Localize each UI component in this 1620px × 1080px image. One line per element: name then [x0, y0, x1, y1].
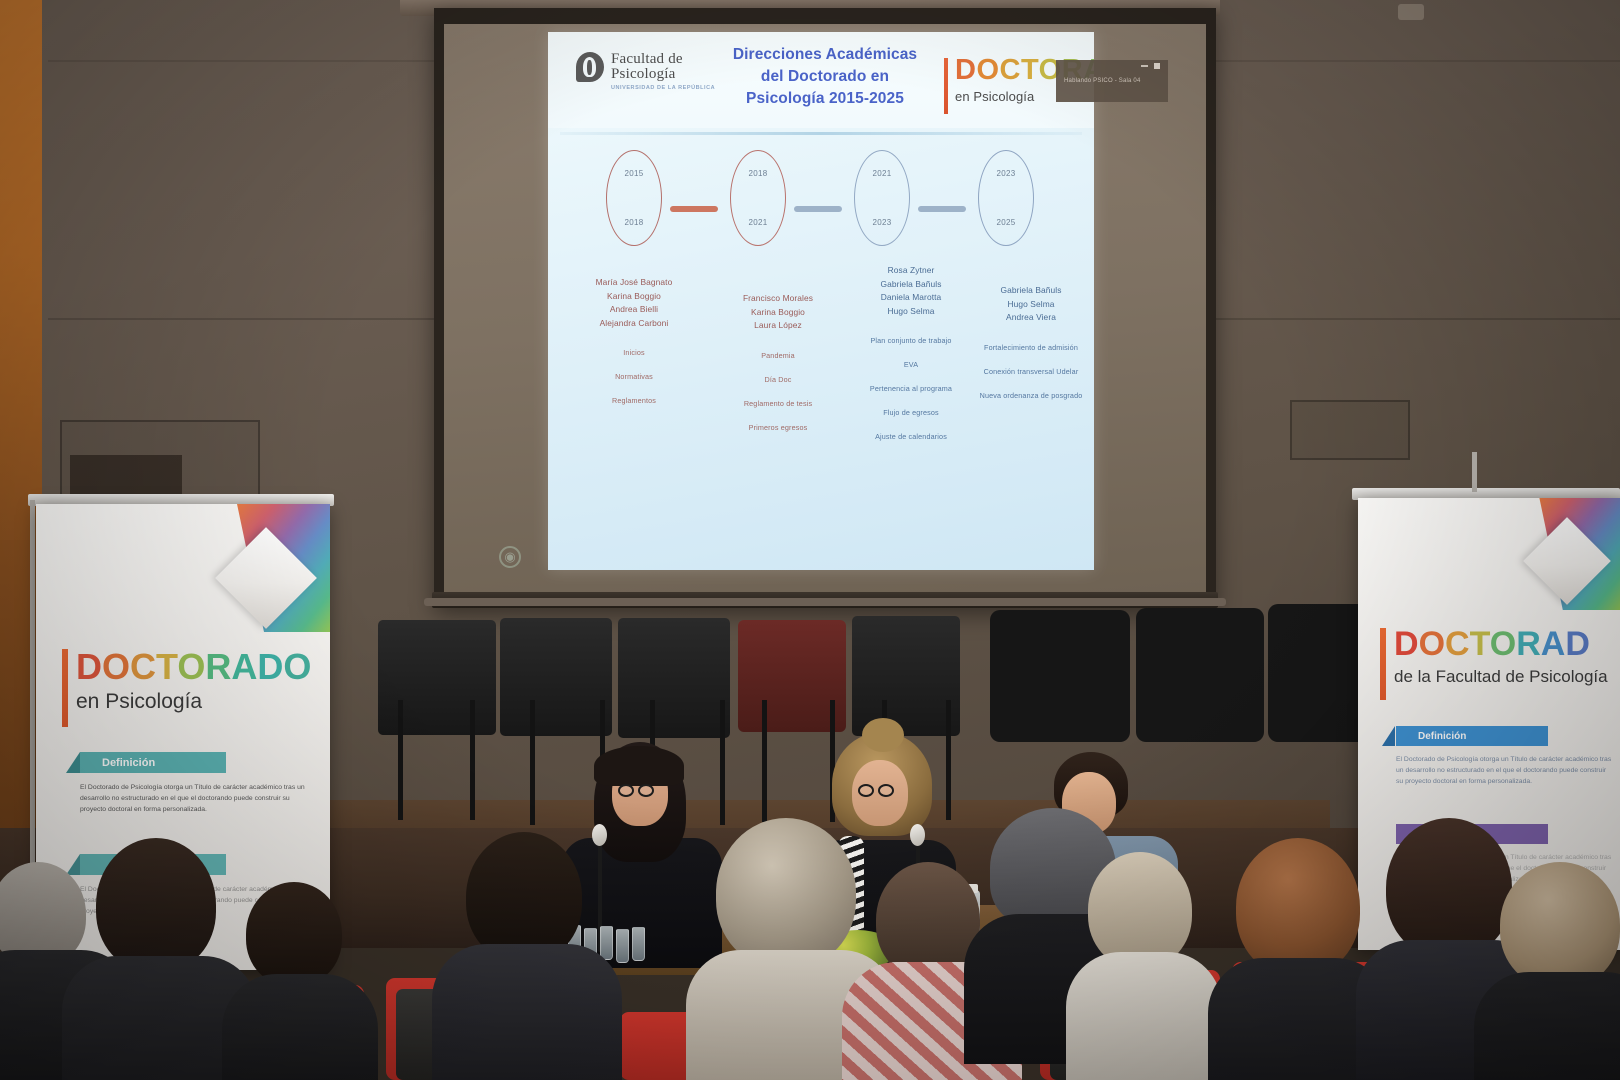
- minimize-icon[interactable]: [1141, 65, 1148, 67]
- audience-head: [1500, 862, 1620, 988]
- chair-leg: [470, 700, 475, 820]
- timeline-node-2023-2025: 20232025: [978, 150, 1034, 246]
- water-glass: [616, 929, 629, 963]
- wordmark-letter-3: T: [156, 646, 177, 687]
- period-topic: Normativas: [554, 372, 714, 381]
- projected-window-titlebar: Hablando PSICO - Sala 04: [1056, 60, 1168, 102]
- wordmark-letter-0: D: [955, 54, 976, 86]
- scene-root: ◉ Facultad de Psicología UNIVERSIDAD DE …: [0, 0, 1620, 1080]
- stacked-chair: [500, 618, 612, 736]
- stacked-chair: [852, 616, 960, 736]
- panelist-2-glasses: [858, 784, 894, 797]
- band-notch: [66, 752, 80, 773]
- maximize-icon[interactable]: [1154, 63, 1160, 69]
- director-name: Andrea Viera: [956, 311, 1094, 325]
- period-topic: Fortalecimiento de admisión: [956, 343, 1094, 352]
- audience-head: [716, 818, 856, 968]
- banner-right-section-band: Definición: [1396, 726, 1548, 746]
- wordmark-letter-4: O: [177, 646, 205, 687]
- glasses-lens-left: [858, 784, 874, 797]
- column-names: Gabriela BañulsHugo SelmaAndrea Viera: [956, 284, 1094, 325]
- office-chair: [1136, 608, 1264, 742]
- doctorado-accent-bar: [944, 58, 948, 114]
- wordmark-letter-6: A: [1541, 625, 1566, 663]
- wordmark-letter-1: O: [976, 54, 999, 86]
- banner-right-pole: [1472, 452, 1477, 492]
- audience-shoulders: [222, 974, 378, 1080]
- wordmark-letter-4: O: [1490, 625, 1516, 663]
- wordmark-letter-8: O: [283, 646, 311, 687]
- audience-head: [1236, 838, 1360, 976]
- period-topic: Reglamentos: [554, 396, 714, 405]
- banner-right-wordmark: DOCTORAD: [1394, 628, 1620, 661]
- projection-screen-surface: ◉ Facultad de Psicología UNIVERSIDAD DE …: [444, 24, 1206, 594]
- wordmark-letter-1: O: [102, 646, 130, 687]
- period-topic: Inicios: [554, 348, 714, 357]
- timeline-row: 20152018201820212021202320232025: [548, 144, 1094, 264]
- chair-leg: [762, 700, 767, 822]
- audience-head: [1386, 818, 1512, 958]
- banner-left-body-text: El Doctorado de Psicología otorga un Tít…: [80, 782, 308, 815]
- banner-left-subtitle: en Psicología: [76, 690, 312, 714]
- wordmark-letter-6: A: [231, 646, 257, 687]
- timeline-connector-0: [670, 206, 718, 212]
- director-name: Hugo Selma: [956, 298, 1094, 312]
- panelist-2-mic-head: [910, 824, 925, 846]
- timeline-node-end-year: 2018: [625, 218, 644, 227]
- wordmark-letter-3: T: [1021, 54, 1039, 86]
- band-notch: [66, 854, 80, 875]
- faculty-logo-line3: UNIVERSIDAD DE LA REPÚBLICA: [611, 86, 715, 92]
- period-topic: Ajuste de calendarios: [826, 432, 996, 441]
- screen-roller: [424, 598, 1226, 606]
- column-names: María José BagnatoKarina BoggioAndrea Bi…: [554, 276, 714, 330]
- timeline-node-start-year: 2015: [625, 169, 644, 178]
- glasses-lens-right: [878, 784, 894, 797]
- banner-left-wordmark: DOCTORADO: [76, 649, 312, 684]
- timeline-node-start-year: 2021: [873, 169, 892, 178]
- panelist-1-fringe: [594, 746, 684, 786]
- wordmark-letter-7: D: [1565, 625, 1590, 663]
- director-name: Gabriela Bañuls: [956, 284, 1094, 298]
- wordmark-letter-0: D: [76, 646, 102, 687]
- audience-shoulders: [1066, 952, 1222, 1080]
- period-columns: María José BagnatoKarina BoggioAndrea Bi…: [548, 264, 1094, 564]
- slide-title-line2: del Doctorado en: [716, 66, 934, 88]
- stacked-chair: [378, 620, 496, 735]
- banner-left-doctorado-logo: DOCTORADO en Psicología: [62, 649, 312, 727]
- timeline-connector-1: [794, 206, 842, 212]
- period-column-2015-2018: María José BagnatoKarina BoggioAndrea Bi…: [554, 276, 714, 420]
- timeline-node-end-year: 2021: [749, 218, 768, 227]
- audience-head: [96, 838, 216, 972]
- panelist-1-glasses: [618, 784, 654, 797]
- banner-left-section-label: Definición: [102, 757, 155, 769]
- faculty-emblem-icon: [576, 52, 604, 82]
- faculty-logo: Facultad de Psicología UNIVERSIDAD DE LA…: [576, 52, 726, 92]
- slide-divider: [560, 132, 1082, 135]
- faculty-logo-line1: Facultad de: [611, 52, 715, 67]
- timeline-node-start-year: 2018: [749, 169, 768, 178]
- chair-leg: [530, 700, 535, 825]
- water-glass: [632, 927, 645, 961]
- audience-head: [246, 882, 342, 986]
- timeline-node-2015-2018: 20152018: [606, 150, 662, 246]
- audience-shoulders: [432, 944, 622, 1080]
- water-glass: [600, 926, 613, 960]
- banner-right-subtitle: de la Facultad de Psicología: [1394, 667, 1620, 687]
- period-topic: Nueva ordenanza de posgrado: [956, 391, 1094, 400]
- timeline-node-end-year: 2023: [873, 218, 892, 227]
- projected-window-title: Hablando PSICO - Sala 04: [1064, 78, 1141, 84]
- wall-recess-right: [1290, 400, 1410, 460]
- wordmark-letter-5: R: [205, 646, 231, 687]
- panelist-1-mic-head: [592, 824, 607, 846]
- timeline-node-end-year: 2025: [997, 218, 1016, 227]
- column-topics: IniciosNormativasReglamentos: [554, 348, 714, 405]
- wordmark-letter-5: R: [1516, 625, 1541, 663]
- director-name: Rosa Zytner: [826, 264, 996, 278]
- chair-leg: [398, 700, 403, 820]
- timeline-node-2018-2021: 20182021: [730, 150, 786, 246]
- screen-watermark-icon: ◉: [499, 546, 521, 568]
- wordmark-letter-0: D: [1394, 625, 1419, 663]
- band-notch: [1382, 726, 1395, 746]
- banner-right-body-text: El Doctorado de Psicología otorga un Tít…: [1396, 754, 1614, 787]
- glasses-lens-right: [638, 784, 654, 797]
- banner-left-accent-bar: [62, 649, 68, 727]
- wordmark-letter-1: O: [1419, 625, 1445, 663]
- wordmark-letter-2: C: [1445, 625, 1470, 663]
- panelist-2-hair-bun: [862, 718, 904, 752]
- timeline-connector-2: [918, 206, 966, 212]
- timeline-node-2021-2023: 20212023: [854, 150, 910, 246]
- banner-left-section-band: Definición: [80, 752, 226, 773]
- wordmark-letter-2: C: [1000, 54, 1021, 86]
- audience-head: [1088, 852, 1192, 968]
- banner-right-accent-bar: [1380, 628, 1386, 700]
- glasses-lens-left: [618, 784, 634, 797]
- faculty-logo-line2: Psicología: [611, 67, 715, 82]
- period-topic: Conexión transversal Udelar: [956, 367, 1094, 376]
- audience-head: [466, 832, 582, 962]
- director-name: Karina Boggio: [554, 290, 714, 304]
- slide-title: Direcciones Académicas del Doctorado en …: [716, 44, 934, 110]
- column-topics: Fortalecimiento de admisiónConexión tran…: [956, 343, 1094, 400]
- slide-title-line3: Psicología 2015-2025: [716, 88, 934, 110]
- wordmark-letter-7: D: [257, 646, 283, 687]
- banner-right-section-label: Definición: [1418, 731, 1466, 742]
- director-name: Andrea Bielli: [554, 303, 714, 317]
- wordmark-letter-3: T: [1470, 625, 1490, 663]
- banner-right-doctorado-logo: DOCTORAD de la Facultad de Psicología: [1380, 628, 1620, 700]
- director-name: Alejandra Carboni: [554, 317, 714, 331]
- ceiling-fixture: [1398, 4, 1424, 20]
- office-chair: [990, 610, 1130, 742]
- wordmark-letter-2: C: [130, 646, 156, 687]
- audience-shoulders: [1474, 972, 1620, 1080]
- presentation-slide: Facultad de Psicología UNIVERSIDAD DE LA…: [548, 32, 1094, 570]
- stacked-chair: [618, 618, 730, 738]
- slide-title-line1: Direcciones Académicas: [716, 44, 934, 66]
- timeline-node-start-year: 2023: [997, 169, 1016, 178]
- director-name: María José Bagnato: [554, 276, 714, 290]
- period-column-2023-2025: Gabriela BañulsHugo SelmaAndrea VieraFor…: [956, 284, 1094, 415]
- wood-column-upper: [0, 0, 42, 560]
- slide-header: Facultad de Psicología UNIVERSIDAD DE LA…: [548, 32, 1094, 128]
